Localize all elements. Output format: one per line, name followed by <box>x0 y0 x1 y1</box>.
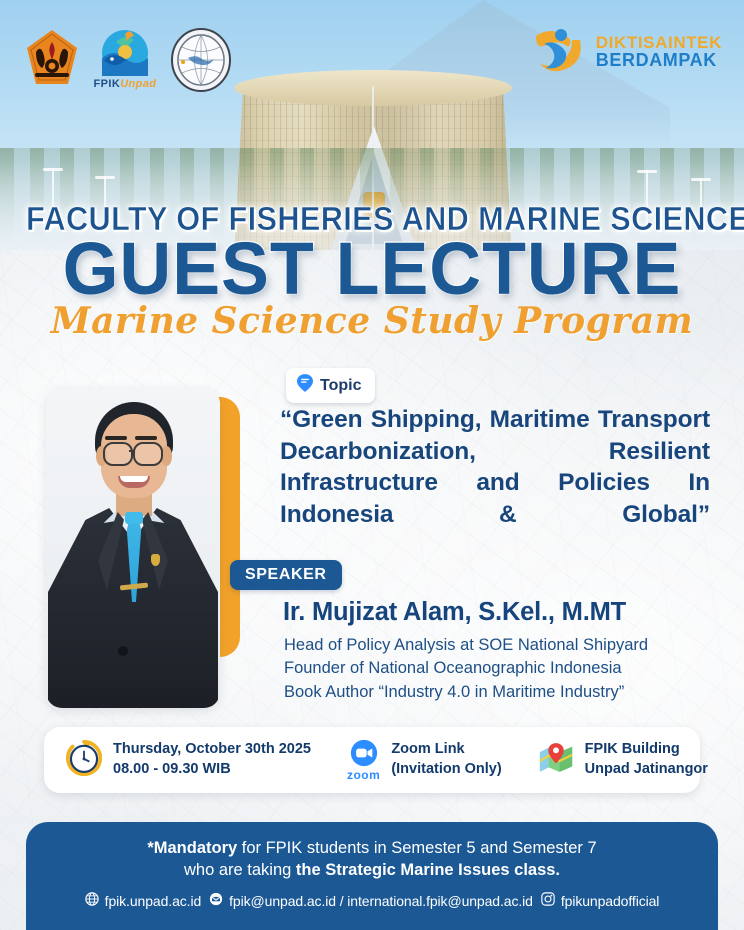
poster-canvas: FPIKUnpad DIKTISAINTEK BER <box>0 0 744 930</box>
venue-campus: Unpad Jatinangor <box>585 760 708 780</box>
speaker-photo <box>46 388 220 708</box>
institution-logos: FPIKUnpad <box>24 28 232 94</box>
topic-badge-label: Topic <box>320 377 361 395</box>
diktisaintek-mark-icon <box>530 26 586 76</box>
fpik-unpad-logo: FPIKUnpad <box>92 28 158 94</box>
fpik-logo-text: FPIKUnpad <box>92 78 158 90</box>
mandatory-notice-panel: *Mandatory for FPIK students in Semester… <box>26 822 718 930</box>
clock-icon <box>66 740 102 781</box>
venue-name: FPIK Building <box>585 740 708 760</box>
page-title: GUEST LECTURE <box>11 232 733 306</box>
speaker-role: Founder of National Oceanographic Indone… <box>284 657 724 680</box>
class-name-keyword: the Strategic Marine Issues class. <box>296 861 560 879</box>
diktisaintek-line2: BERDAMPAK <box>596 51 722 69</box>
notice-line-2: who are taking the Strategic Marine Issu… <box>26 859 718 883</box>
instagram-icon <box>541 892 555 909</box>
notice-line-1-rest: for FPIK students in Semester 5 and Seme… <box>237 839 597 857</box>
instagram-text: fpikunpadofficial <box>561 893 659 909</box>
map-pin-icon <box>538 741 574 779</box>
contact-bar: fpik.unpad.ac.id fpik@unpad.ac.id / inte… <box>26 892 718 909</box>
speech-bubble-pin-icon <box>297 374 313 397</box>
email-text: fpik@unpad.ac.id / international.fpik@un… <box>229 893 533 909</box>
info-item-datetime: Thursday, October 30th 2025 08.00 - 09.3… <box>44 740 329 781</box>
contact-email[interactable]: fpik@unpad.ac.id / international.fpik@un… <box>209 892 533 909</box>
event-time: 08.00 - 09.30 WIB <box>113 760 311 780</box>
speaker-badge: SPEAKER <box>230 560 342 590</box>
contact-instagram[interactable]: fpikunpadofficial <box>541 892 659 909</box>
fpik-label: FPIK <box>94 78 121 90</box>
speaker-role: Head of Policy Analysis at SOE National … <box>284 634 724 657</box>
mandatory-keyword: *Mandatory <box>147 839 237 857</box>
zoom-link-label: Zoom Link <box>391 740 501 760</box>
speaker-roles: Head of Policy Analysis at SOE National … <box>284 634 724 704</box>
speaker-role: Book Author “Industry 4.0 in Maritime In… <box>284 681 724 704</box>
globe-icon <box>85 892 99 909</box>
topic-text: “Green Shipping, Maritime Transport Deca… <box>280 404 710 530</box>
event-date: Thursday, October 30th 2025 <box>113 740 311 760</box>
marine-science-globe-logo <box>170 28 232 92</box>
envelope-icon <box>209 892 223 909</box>
unpad-label: Unpad <box>120 78 156 90</box>
zoom-wordmark: zoom <box>347 768 380 782</box>
info-item-zoom: zoom Zoom Link (Invitation Only) <box>329 739 520 782</box>
contact-website[interactable]: fpik.unpad.ac.id <box>85 892 201 909</box>
info-item-location: FPIK Building Unpad Jatinangor <box>520 740 726 779</box>
topic-badge: Topic <box>286 368 375 403</box>
website-text: fpik.unpad.ac.id <box>105 893 201 909</box>
notice-line-2-pre: who are taking <box>184 861 296 879</box>
zoom-icon: zoom <box>347 739 380 782</box>
program-subtitle: Marine Science Study Program <box>0 300 744 342</box>
speaker-name: Ir. Mujizat Alam, S.Kel., M.MT <box>283 598 713 627</box>
event-info-card: Thursday, October 30th 2025 08.00 - 09.3… <box>44 727 700 793</box>
diktisaintek-berdampak-logo: DIKTISAINTEK BERDAMPAK <box>530 26 722 76</box>
zoom-invitation-note: (Invitation Only) <box>391 760 501 780</box>
unpad-logo <box>24 28 80 90</box>
diktisaintek-line1: DIKTISAINTEK <box>596 34 722 51</box>
notice-line-1: *Mandatory for FPIK students in Semester… <box>26 837 718 861</box>
